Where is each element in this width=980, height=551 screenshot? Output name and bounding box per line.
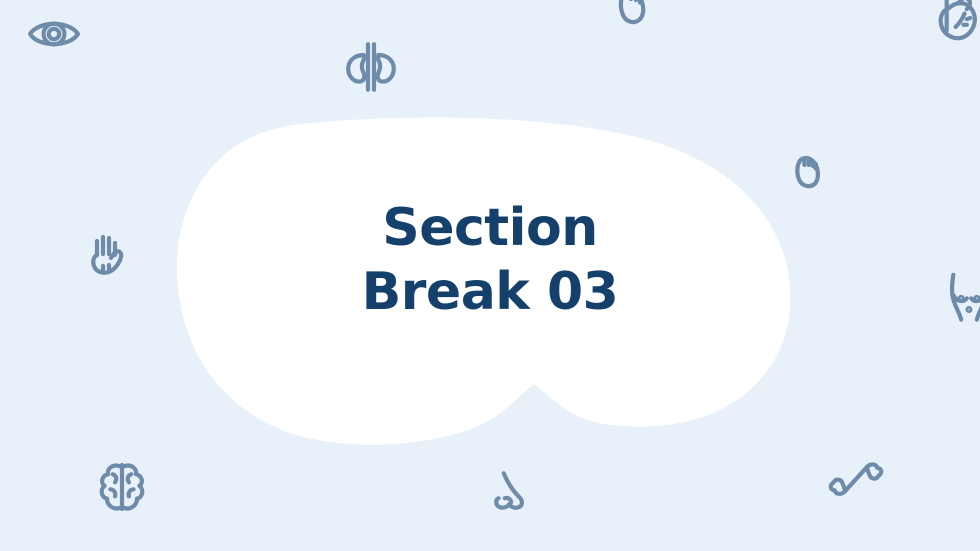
title-line-1: Section xyxy=(0,196,980,260)
section-break-slide: Section Break 03 xyxy=(0,0,980,551)
title-line-2: Break 03 xyxy=(0,260,980,324)
slide-title: Section Break 03 xyxy=(0,196,980,324)
